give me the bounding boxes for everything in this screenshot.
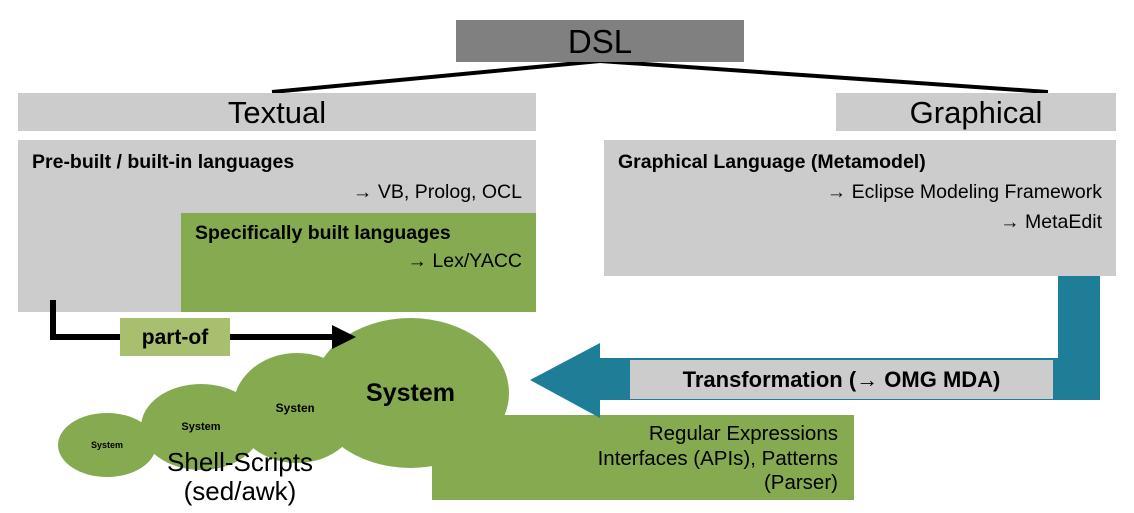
dsl-taxonomy-diagram: DSL Textual Graphical Pre-built / built-…	[0, 0, 1134, 513]
part-of-label-box: part-of	[120, 318, 230, 356]
right-arrow-icon	[0, 0, 1134, 513]
part-of-label: part-of	[142, 327, 209, 348]
